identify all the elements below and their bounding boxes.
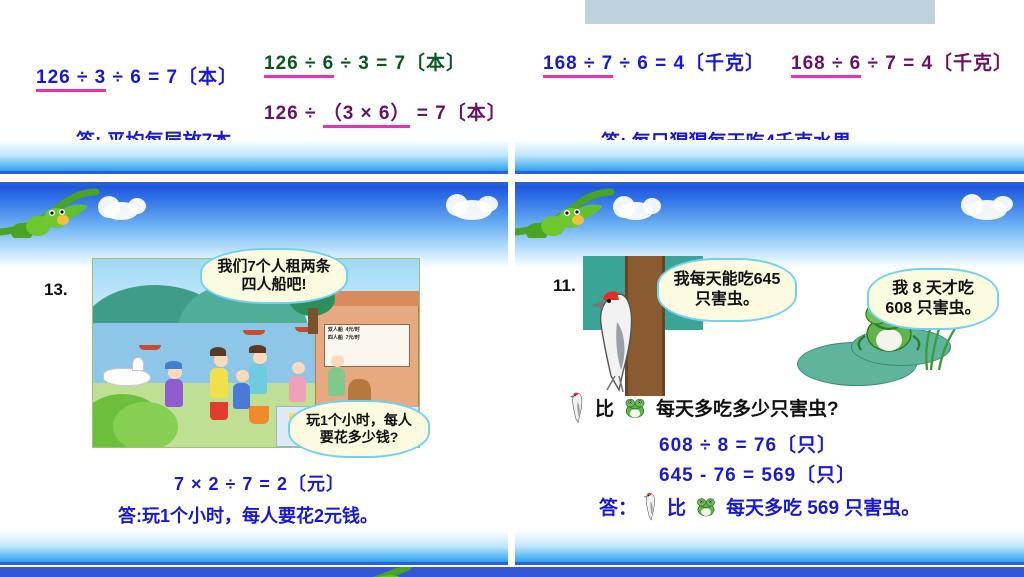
expr-underlined-part: 168 ÷ 7 [543, 53, 613, 78]
expr-prefix: 126 ÷ [264, 103, 323, 124]
expr-645-minus-76: 645 - 76 = 569〔只〕 [659, 460, 856, 487]
caterpillar-vine-icon [515, 188, 715, 238]
frog-icon [620, 394, 650, 420]
question-suffix-text: 每天多吃多少只害虫? [656, 394, 839, 421]
expr-126-div6-div3: 126 ÷ 6 ÷ 3 = 7〔本〕 [264, 48, 466, 75]
slide-top-left-books[interactable]: 126 ÷ 3 ÷ 6 = 7〔本〕 126 ÷ 6 ÷ 3 = 7〔本〕 12… [0, 0, 508, 174]
orangutan-fruit-picture [585, 0, 935, 24]
slide-footer-band [515, 140, 1024, 174]
bubble-woodpecker: 我每天能吃645只害虫。 [657, 258, 797, 322]
caterpillar-vine-icon [330, 567, 450, 577]
slide-footer-band [0, 531, 508, 565]
price-row-label: 四人船 [328, 335, 343, 341]
answer-mid: 比 [667, 493, 686, 520]
expr-rest: ÷ 6 = 7〔本〕 [106, 67, 238, 88]
slide-top-right-fruit[interactable]: 了168千克水果。 168 ÷ 7 ÷ 6 = 4〔千克〕 168 ÷ 6 ÷ … [515, 0, 1024, 174]
price-row-value: 4元/时 [346, 327, 360, 333]
bubble-rent-boats: 我们7个人租两条四人船吧! [200, 248, 348, 304]
expr-608-div8: 608 ÷ 8 = 76〔只〕 [659, 430, 837, 457]
price-row-label: 双人船 [328, 327, 343, 333]
expr-rest: ÷ 3 = 7〔本〕 [334, 53, 466, 74]
answer-pests: 答： 比 每天多吃 569 只害虫。 [599, 490, 920, 522]
bubble-cost-question: 玩1个小时，每人要花多少钱? [288, 400, 430, 458]
question-number-11: 11. [553, 276, 576, 296]
slide-footer-band [0, 140, 508, 174]
price-row-value: 7元/时 [346, 335, 360, 341]
woodpecker-icon [589, 284, 655, 394]
woodpecker-icon [643, 490, 661, 522]
expr-underlined-part: 126 ÷ 3 [36, 67, 106, 92]
expr-168-div7-div6: 168 ÷ 7 ÷ 6 = 4〔千克〕 [543, 48, 765, 75]
frog-icon [692, 494, 720, 518]
expr-rest: = 7〔本〕 [410, 103, 506, 124]
expr-rest: ÷ 7 = 4〔千克〕 [861, 53, 1013, 74]
expr-126-div-3x6: 126 ÷ （3 × 6） = 7〔本〕 [264, 98, 507, 125]
slide-thumbnail-grid: 126 ÷ 3 ÷ 6 = 7〔本〕 126 ÷ 6 ÷ 3 = 7〔本〕 12… [0, 0, 1024, 577]
slide-bottom-right-pests[interactable]: 11. [515, 182, 1024, 565]
expr-7x2-div7: 7 × 2 ÷ 7 = 2〔元〕 [174, 470, 345, 496]
question-number-13: 13. [44, 280, 68, 300]
expr-underlined-part: （3 × 6） [323, 103, 411, 128]
answer-tail: 每天多吃 569 只害虫。 [726, 493, 920, 520]
answer-lead: 答： [599, 493, 637, 520]
question-mid-text: 比 [595, 394, 614, 421]
slide-bottom-left-boats[interactable]: 13. 双人船 4元/时 四人船 7元/时 [0, 182, 508, 565]
expr-168-div6-div7: 168 ÷ 6 ÷ 7 = 4〔千克〕 [791, 48, 1013, 75]
expr-rest: ÷ 6 = 4〔千克〕 [613, 53, 765, 74]
woodpecker-icon [569, 390, 589, 424]
expr-126-div3-div6: 126 ÷ 3 ÷ 6 = 7〔本〕 [36, 62, 238, 89]
caterpillar-vine-icon [0, 188, 200, 238]
slide-next-preview[interactable] [0, 567, 1024, 577]
pest-question: 比 每天多吃多少只害虫? [569, 390, 839, 424]
slide-footer-band [515, 531, 1024, 565]
answer-boats: 答:玩1个小时，每人要花2元钱。 [118, 502, 378, 528]
expr-underlined-part: 126 ÷ 6 [264, 53, 334, 78]
bubble-frog: 我 8 天才吃608 只害虫。 [867, 268, 999, 330]
expr-underlined-part: 168 ÷ 6 [791, 53, 861, 78]
